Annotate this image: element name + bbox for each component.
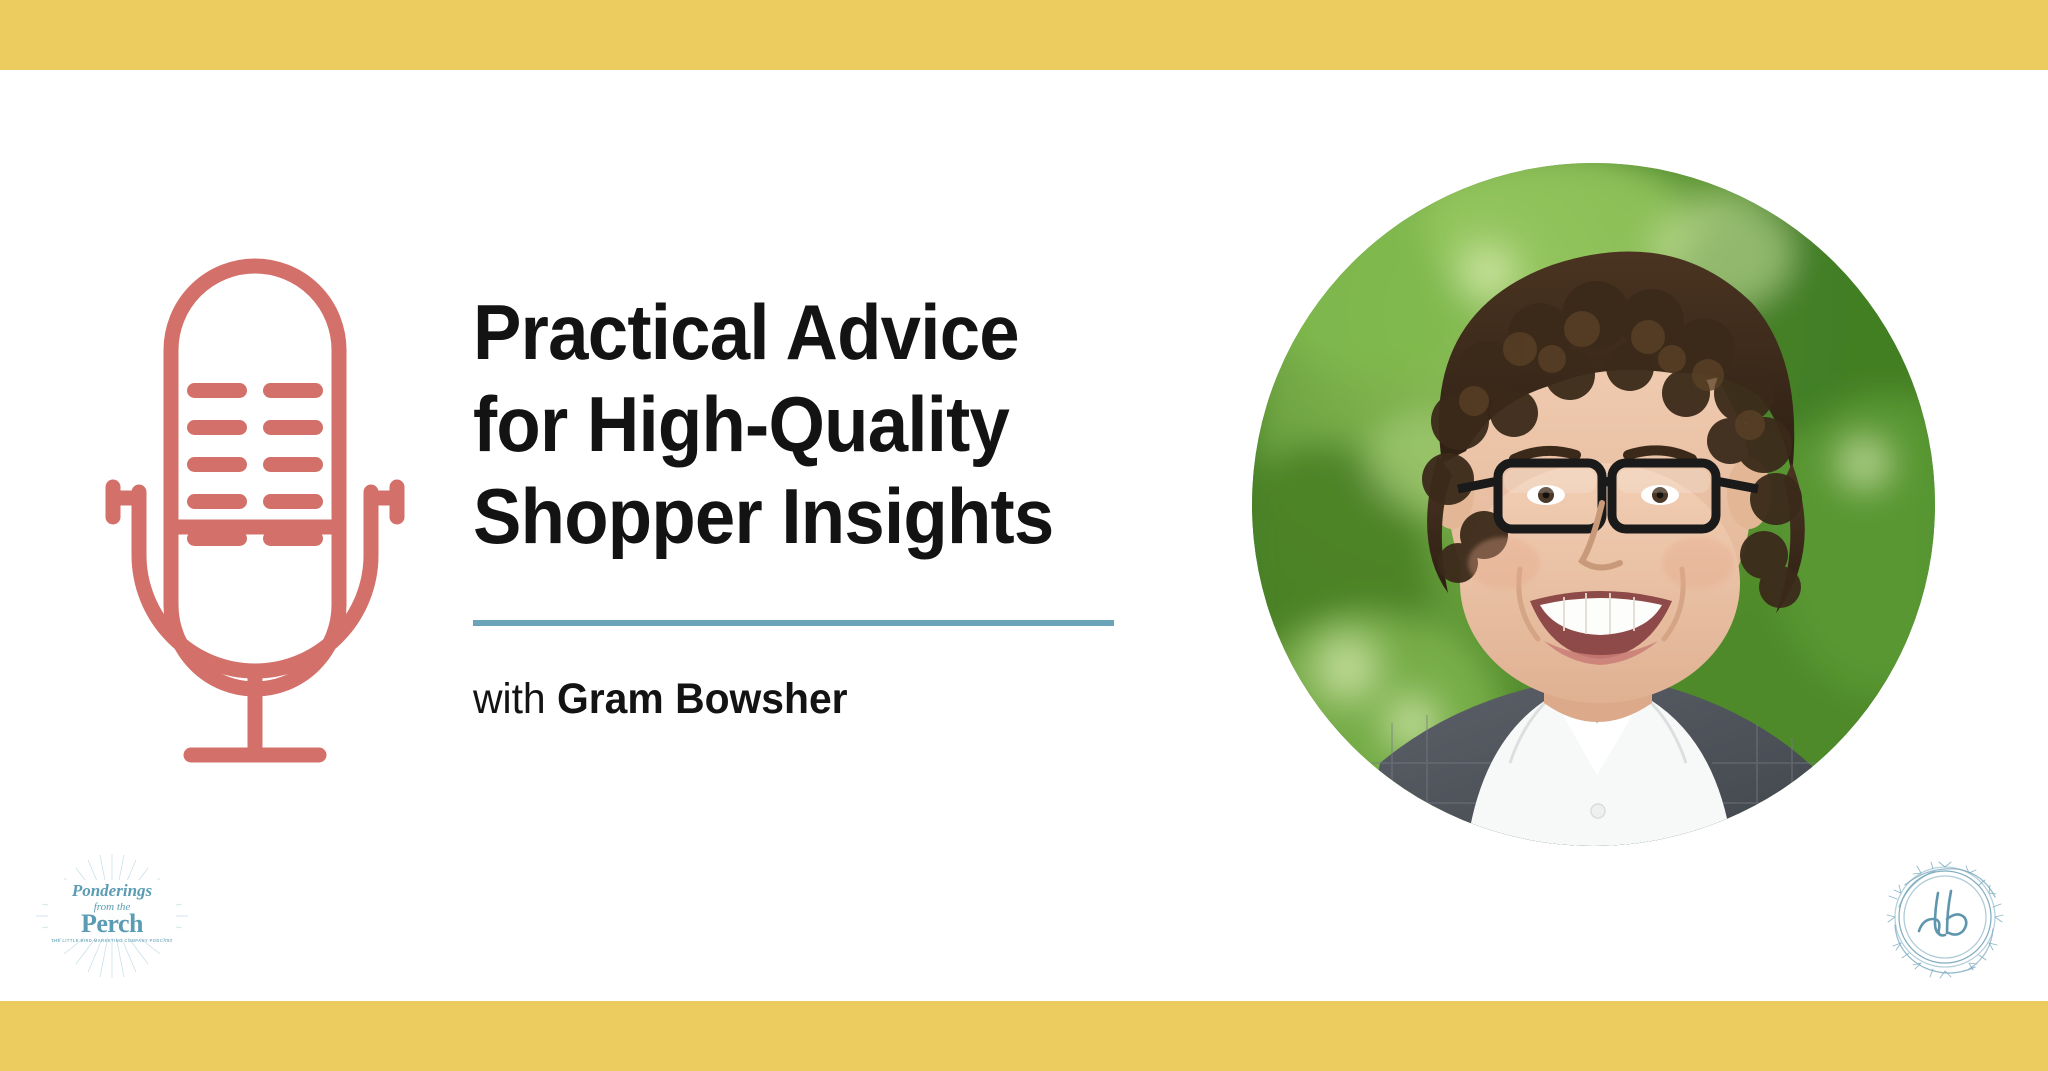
title-divider: [473, 620, 1114, 626]
podcast-episode-banner: Practical Advice for High-Quality Shoppe…: [0, 0, 2048, 1071]
brand-monogram-logo: lb: [1875, 855, 2015, 983]
microphone-icon: [95, 255, 415, 775]
episode-text-block: Practical Advice for High-Quality Shoppe…: [473, 286, 1133, 723]
guest-name: Gram Bowsher: [557, 675, 848, 723]
guest-headshot: [1252, 163, 1935, 846]
podcast-logo: Ponderings from the Perch THE LITTLE BIR…: [32, 852, 192, 980]
top-accent-bar: [0, 0, 2048, 70]
podcast-logo-line-3: Perch: [81, 909, 144, 938]
podcast-logo-line-1: Ponderings: [71, 881, 153, 900]
byline-prefix: with: [473, 675, 546, 723]
episode-byline: with Gram Bowsher: [473, 676, 1100, 723]
bottom-accent-bar: [0, 1001, 2048, 1071]
podcast-logo-tagline: THE LITTLE BIRD MARKETING COMPANY PODCAS…: [51, 938, 173, 943]
episode-title: Practical Advice for High-Quality Shoppe…: [473, 286, 1087, 562]
